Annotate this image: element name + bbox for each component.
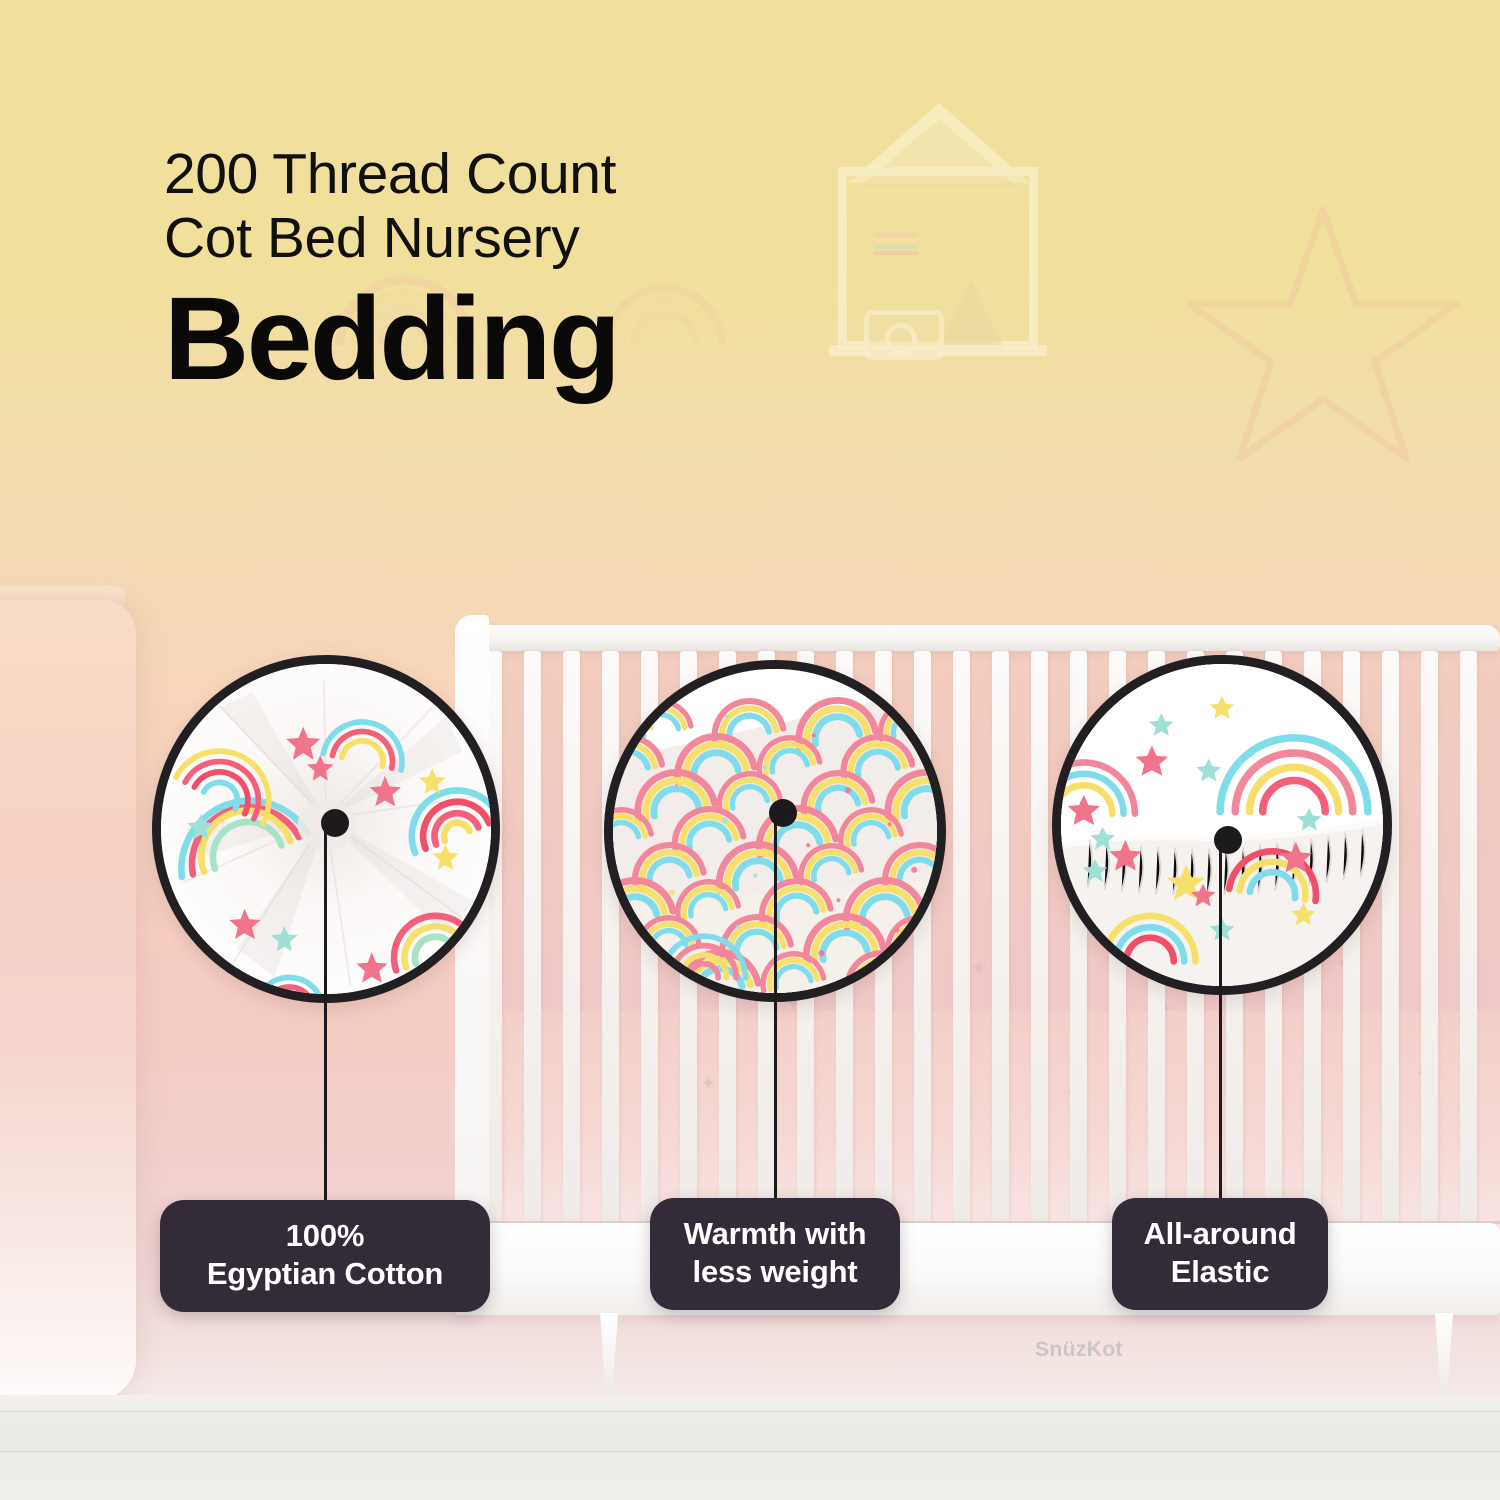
cot-base-panel — [455, 1223, 1500, 1315]
callout-pill-1-line2: Egyptian Cotton — [160, 1255, 490, 1293]
cot-slat — [1421, 651, 1438, 1223]
callout-pill-3[interactable]: All-around Elastic — [1112, 1198, 1328, 1310]
leader-line-3 — [1219, 830, 1222, 1215]
cot-slat — [524, 651, 541, 1223]
bedding-star-icon: ✦ — [700, 1071, 717, 1096]
bedding-star-icon: ✦ — [970, 956, 987, 981]
cot-slat — [563, 651, 580, 1223]
leader-line-2 — [774, 805, 777, 1215]
headline-product-word: Bedding — [164, 278, 924, 400]
callout-pill-1-line1: 100% — [160, 1217, 490, 1255]
leader-line-1 — [324, 815, 327, 1215]
callout-pill-3-line2: Elastic — [1112, 1253, 1328, 1291]
cot-slat — [1460, 651, 1477, 1223]
cot-slat — [992, 651, 1009, 1223]
callout-circle-3[interactable] — [1052, 655, 1392, 995]
star-outline-icon — [1178, 192, 1468, 462]
headline-block: 200 Thread Count Cot Bed Nursery Bedding — [164, 142, 924, 400]
cot-slat — [1382, 651, 1399, 1223]
callout-dot-2 — [769, 799, 797, 827]
callout-dot-1 — [321, 809, 349, 837]
callout-pill-2-line1: Warmth with — [650, 1215, 900, 1253]
cot-slat — [1031, 651, 1048, 1223]
headline-line-2: Cot Bed Nursery — [164, 206, 924, 270]
callout-pill-1[interactable]: 100% Egyptian Cotton — [160, 1200, 490, 1312]
floor — [0, 1395, 1500, 1500]
fabric-elastic-edge-image — [1061, 664, 1383, 986]
callout-pill-2-line2: less weight — [650, 1253, 900, 1291]
product-marketing-image: ✦ ✦ ✦ ✦ ✦ ✦ ✦ ✦ SnüzKot 200 Thread Count… — [0, 0, 1500, 1500]
cot-brand-logo: SnüzKot — [1035, 1338, 1123, 1362]
callout-pill-2[interactable]: Warmth with less weight — [650, 1198, 900, 1310]
callout-pill-3-line1: All-around — [1112, 1215, 1328, 1253]
headline-line-1: 200 Thread Count — [164, 142, 924, 206]
callout-dot-3 — [1214, 826, 1242, 854]
dresser-unit — [0, 600, 136, 1400]
cot-slat — [953, 651, 970, 1223]
cot-top-rail — [455, 625, 1500, 651]
